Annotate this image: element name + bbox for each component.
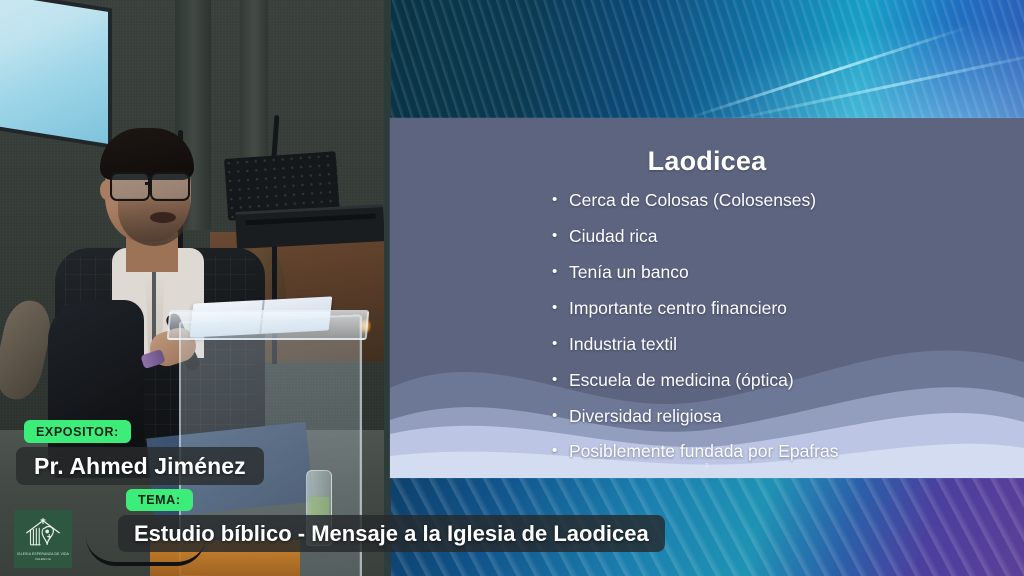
- keyboard-instrument: [235, 204, 384, 249]
- eyeglasses-icon: [150, 172, 190, 201]
- slide-bullet-item: Ciudad rica: [550, 226, 1020, 247]
- slide-panel: Laodicea Cerca de Colosas (Colosenses) C…: [390, 118, 1024, 478]
- speaker-role-badge: EXPOSITOR:: [24, 420, 131, 443]
- light-streak-icon: [684, 25, 970, 121]
- topic-label-badge: TEMA:: [126, 489, 193, 511]
- slide-bullet-item: Importante centro financiero: [550, 298, 1020, 319]
- eyeglasses-icon: [110, 172, 150, 201]
- slide-bullet-list: Cerca de Colosas (Colosenses) Ciudad ric…: [550, 190, 1020, 476]
- eyeglasses-bridge: [145, 182, 152, 185]
- slide-bullet-item: Diversidad religiosa: [550, 406, 1020, 427]
- slide-bullet-item: Cerca de Colosas (Colosenses): [550, 190, 1020, 211]
- background-top-gradient: [384, 0, 1024, 122]
- topic-title-bar: Estudio bíblico - Mensaje a la Iglesia d…: [118, 515, 665, 552]
- slide-page-number: 3: [390, 463, 1024, 470]
- slide-bullet-item: Tenía un banco: [550, 262, 1020, 283]
- slide-bullet-item: Posiblemente fundada por Epafras: [550, 442, 869, 461]
- slide-bullet-item: Escuela de medicina (óptica): [550, 370, 1020, 391]
- speaker-mouth: [150, 212, 176, 223]
- light-streak-icon: [714, 47, 1024, 122]
- broadcast-stage: Laodicea Cerca de Colosas (Colosenses) C…: [0, 0, 1024, 576]
- church-logo-icon: [23, 517, 63, 551]
- projection-screen: [0, 0, 108, 144]
- slide-title: Laodicea: [390, 146, 1024, 177]
- speaker-video-feed: [0, 0, 384, 576]
- speaker-arm: [48, 300, 144, 470]
- church-logo-line1: IGLESIA ESPERANZA DE VIDA: [17, 552, 69, 556]
- church-logo-line2: VALENCIA: [35, 557, 51, 561]
- church-logo: IGLESIA ESPERANZA DE VIDA VALENCIA: [14, 510, 72, 568]
- slide-bullet-item: Industria textil: [550, 334, 1020, 355]
- speaker-name-bar: Pr. Ahmed Jiménez: [16, 447, 264, 485]
